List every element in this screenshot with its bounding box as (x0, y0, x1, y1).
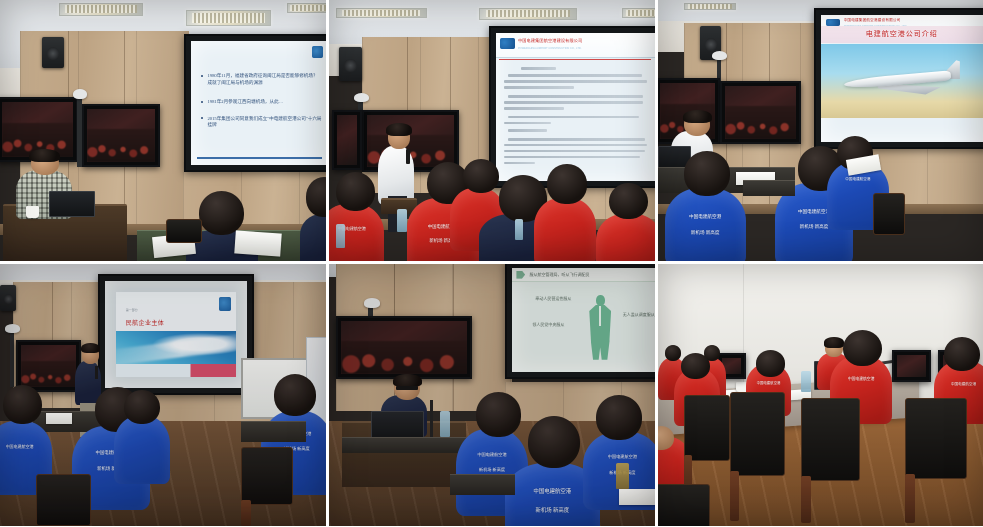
businessman-silhouette-icon (588, 295, 613, 359)
powerchina-logo-icon (500, 38, 514, 49)
photo-top-right[interactable]: 中国电建集团航空港建设有限公司 POWERCHINA AIRPORT CONST… (658, 0, 983, 261)
slide-header-company: 中国电建集团航空港建设有限公司 (844, 18, 976, 23)
slide-header-company: 中国电建集团航空港建设有限公司 (518, 38, 648, 44)
slide-label-3: 无人监从调度服从 (623, 312, 655, 318)
presenter-laptop (49, 191, 95, 217)
video-monitor-right (82, 104, 160, 167)
slide-bullet-3: 2015年集团公司同意我们成立"中电建航空港公司"十六局挂牌 (208, 116, 322, 129)
audience-head (199, 191, 245, 235)
photo-bottom-middle[interactable]: 服从航空管理局，听从飞行调配员 牵动人民营运性服从 领人民党中央服从 无人监从调… (329, 264, 655, 526)
chair (684, 395, 730, 461)
presenter-laptop (371, 411, 423, 440)
slide-header: 服从航空管理局，听从飞行调配员 (530, 272, 590, 278)
handheld-microphone (406, 149, 411, 165)
photo-bottom-left[interactable]: 第一部分 民航企业主体 中国电建航空港 中国电建航空港 (0, 264, 326, 526)
chair (36, 474, 91, 526)
slide-kicker: 第一部分 (126, 308, 138, 312)
photo-top-middle[interactable]: 中国电建集团航空港建设有限公司 POWERCHINA AIRPORT CONST… (329, 0, 655, 261)
slide-bullet-1: 1980年11月，福建省政府征询闽江局是否能够修机场？成就了闽江局与机场的渊源 (208, 73, 322, 86)
photo-top-left[interactable]: 1980年11月，福建省政府征询闽江局是否能够修机场？成就了闽江局与机场的渊源 … (0, 0, 326, 261)
photo-bottom-right[interactable]: 中国电建航空港 中国电建航空港 中国电建航空港 (658, 264, 983, 526)
slide-logo-icon (219, 297, 231, 311)
projection-screen: 1980年11月，福建省政府征询闽江局是否能够修机场？成就了闽江局与机场的渊源 … (184, 34, 326, 172)
slide-title: 电建航空港公司介绍 (821, 29, 983, 39)
chevron-right-icon (516, 271, 525, 279)
slide-label-2: 领人民党中央服从 (532, 322, 564, 328)
ceiling-speaker (42, 37, 63, 68)
projection-screen: 服从航空管理局，听从飞行调配员 牵动人民营运性服从 领人民党中央服从 无人监从调… (505, 264, 655, 379)
slide-label-1: 牵动人民营运性服从 (535, 296, 571, 302)
audience-torso (665, 188, 746, 261)
coffee-mug (26, 206, 39, 218)
eyeglasses-icon (396, 386, 418, 390)
projection-screen: 第一部分 民航企业主体 (98, 274, 254, 395)
video-monitor-right (720, 81, 801, 144)
handheld-microphone (95, 366, 99, 379)
photo-collage: 1980年11月，福建省政府征询闽江局是否能够修机场？成就了闽江局与机场的渊源 … (0, 0, 983, 527)
slide-header-company-en: POWERCHINA AIRPORT CONSTRUCTION CO., LTD… (518, 47, 648, 50)
powerchina-logo-icon (826, 19, 841, 27)
projection-screen: 中国电建集团航空港建设有限公司 POWERCHINA AIRPORT CONST… (814, 8, 983, 149)
slide-logo-icon (312, 46, 323, 58)
camera-icon (73, 89, 88, 99)
slide-title: 民航企业主体 (126, 318, 164, 327)
slide-hero-image (116, 331, 236, 363)
video-monitor (336, 316, 473, 379)
slide-bullet-2: 1981年2月参观江西向塘机场，从此… (208, 99, 322, 106)
gooseneck-microphone (430, 400, 433, 437)
